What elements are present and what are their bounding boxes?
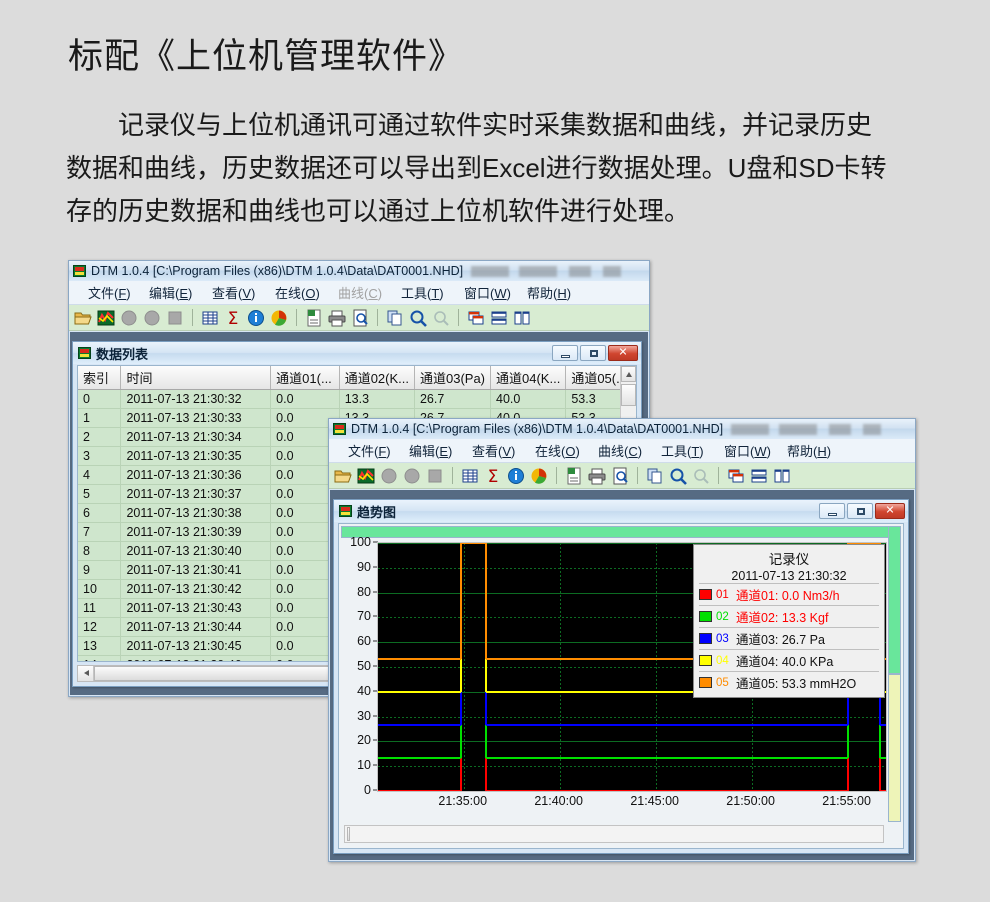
y-tick-label: 10 <box>357 758 371 772</box>
open-folder-icon[interactable] <box>333 466 353 486</box>
toolbar-separator <box>458 309 459 326</box>
cell-index: 5 <box>78 485 121 504</box>
cell-time: 2011-07-13 21:30:43 <box>121 599 271 618</box>
legend-channel-text: 通道03: 26.7 Pa <box>736 629 825 648</box>
gridline-h <box>378 791 886 792</box>
page-description: 记录仪与上位机通讯可通过软件实时采集数据和曲线，并记录历史数据和曲线，历史数据还… <box>66 104 896 233</box>
window-titlebar[interactable]: DTM 1.0.4 [C:\Program Files (x86)\DTM 1.… <box>69 261 649 281</box>
pie-chart-icon[interactable] <box>269 308 289 328</box>
child-window-trend[interactable]: 趋势图 ✕ 0102030405060708090100 21:35:0021:… <box>333 499 909 854</box>
x-tick-label: 21:55:00 <box>822 794 871 808</box>
legend-channel-text: 通道05: 53.3 mmH2O <box>736 673 856 692</box>
legend-row-04: 04通道04: 40.0 KPa <box>699 649 879 671</box>
table-grid-icon[interactable] <box>460 466 480 486</box>
menu-item-7[interactable]: 帮助(H) <box>787 441 831 460</box>
legend-channel-text: 通道01: 0.0 Nm3/h <box>736 585 840 604</box>
tile-vertical-icon[interactable] <box>772 466 792 486</box>
legend-channel-number: 03 <box>716 633 732 645</box>
menu-item-3[interactable]: 在线(O) <box>535 441 580 460</box>
column-header-5[interactable]: 通道04(K... <box>491 366 566 390</box>
cell-index: 10 <box>78 580 121 599</box>
chart-top-green-bar <box>341 526 889 538</box>
trace-segment <box>485 543 487 659</box>
x-tick-label: 21:45:00 <box>630 794 679 808</box>
cell-time: 2011-07-13 21:30:33 <box>121 409 271 428</box>
chart-curve-icon[interactable] <box>356 466 376 486</box>
trace-segment <box>378 658 461 660</box>
y-tick-label: 50 <box>357 659 371 673</box>
indicator-yellow <box>888 674 901 822</box>
menu-bar-2[interactable]: 文件(F)编辑(E)查看(V)在线(O)曲线(C)工具(T)窗口(W)帮助(H) <box>329 439 915 463</box>
menu-item-5[interactable]: 工具(T) <box>401 283 444 302</box>
minimize-button[interactable] <box>552 345 578 361</box>
dtm-window-trend[interactable]: DTM 1.0.4 [C:\Program Files (x86)\DTM 1.… <box>328 418 916 862</box>
app-icon <box>73 265 86 277</box>
print-preview-icon[interactable] <box>610 466 630 486</box>
cell-index: 2 <box>78 428 121 447</box>
legend-channel-text: 通道02: 13.3 Kgf <box>736 607 828 626</box>
cell-time: 2011-07-13 21:30:32 <box>121 390 271 409</box>
trace-segment <box>461 542 487 544</box>
menu-item-6[interactable]: 窗口(W) <box>464 283 511 302</box>
cell-index: 8 <box>78 542 121 561</box>
legend-device-name: 记录仪 <box>699 548 879 568</box>
menu-item-1[interactable]: 编辑(E) <box>149 283 192 302</box>
legend-color-swatch <box>699 611 712 622</box>
legend-color-swatch <box>699 677 712 688</box>
trend-chart-panel: 0102030405060708090100 21:35:0021:40:002… <box>338 523 904 849</box>
sigma-sum-icon[interactable]: Σ <box>483 466 503 486</box>
cascade-windows-icon[interactable] <box>466 308 486 328</box>
column-header-0[interactable]: 索引 <box>78 366 121 390</box>
legend-row-01: 01通道01: 0.0 Nm3/h <box>699 583 879 605</box>
svg-text:Σ: Σ <box>488 467 499 486</box>
cell-time: 2011-07-13 21:30:34 <box>121 428 271 447</box>
plot-wrapper: 0102030405060708090100 21:35:0021:40:002… <box>341 540 887 822</box>
cell-ch01: 0.0 <box>271 390 340 409</box>
tile-vertical-icon[interactable] <box>512 308 532 328</box>
child-title-text-2: 趋势图 <box>357 502 396 521</box>
cell-time: 2011-07-13 21:30:39 <box>121 523 271 542</box>
legend-channel-number: 05 <box>716 677 732 689</box>
toolbar-separator <box>192 309 193 326</box>
chart-legend: 记录仪 2011-07-13 21:30:32 01通道01: 0.0 Nm3/… <box>693 544 885 698</box>
cell-time: 2011-07-13 21:30:35 <box>121 447 271 466</box>
child-title-text: 数据列表 <box>96 344 148 363</box>
legend-color-swatch <box>699 633 712 644</box>
legend-row-03: 03通道03: 26.7 Pa <box>699 627 879 649</box>
print-icon[interactable] <box>327 308 347 328</box>
legend-channel-text: 通道04: 40.0 KPa <box>736 651 833 670</box>
cascade-windows-icon[interactable] <box>726 466 746 486</box>
y-tick-label: 70 <box>357 609 371 623</box>
menu-item-4[interactable]: 曲线(C) <box>598 441 642 460</box>
maximize-button[interactable] <box>847 503 873 519</box>
menu-item-0[interactable]: 文件(F) <box>88 283 131 302</box>
legend-channel-number: 01 <box>716 589 732 601</box>
x-tick-label: 21:35:00 <box>438 794 487 808</box>
window-title-text-2: DTM 1.0.4 [C:\Program Files (x86)\DTM 1.… <box>351 422 723 436</box>
legend-color-swatch <box>699 589 712 600</box>
page-title: 标配《上位机管理软件》 <box>68 28 464 79</box>
window-titlebar-2[interactable]: DTM 1.0.4 [C:\Program Files (x86)\DTM 1.… <box>329 419 915 439</box>
y-tick-label: 100 <box>350 535 371 549</box>
scroll-thumb[interactable] <box>621 384 636 406</box>
chart-right-indicator-bar <box>888 526 901 822</box>
y-tick-label: 30 <box>357 709 371 723</box>
scroll-up-button[interactable] <box>621 366 636 382</box>
export-excel-icon[interactable] <box>564 466 584 486</box>
trend-icon <box>339 505 352 517</box>
menu-item-4[interactable]: 曲线(C) <box>338 283 382 302</box>
titlebar-blurred-buttons-2 <box>731 424 911 435</box>
cell-index: 6 <box>78 504 121 523</box>
toolbar-separator <box>718 467 719 484</box>
y-axis: 0102030405060708090100 <box>341 540 373 792</box>
chart-curve-icon[interactable] <box>96 308 116 328</box>
pause-circle-icon[interactable] <box>142 308 162 328</box>
toolbar-separator <box>637 467 638 484</box>
stop-square-icon[interactable] <box>425 466 445 486</box>
minimize-button[interactable] <box>819 503 845 519</box>
toolbar-separator <box>452 467 453 484</box>
tool-bar[interactable]: Σ <box>69 305 649 331</box>
cell-time: 2011-07-13 21:30:44 <box>121 618 271 637</box>
menu-bar[interactable]: 文件(F)编辑(E)查看(V)在线(O)曲线(C)工具(T)窗口(W)帮助(H) <box>69 281 649 305</box>
menu-item-6[interactable]: 窗口(W) <box>724 441 771 460</box>
table-header-row: 索引时间通道01(...通道02(K...通道03(Pa)通道04(K...通道… <box>78 366 636 390</box>
x-tick-label: 21:50:00 <box>726 794 775 808</box>
toolbar-separator <box>377 309 378 326</box>
zoom-in-icon[interactable] <box>408 308 428 328</box>
tile-horizontal-icon[interactable] <box>749 466 769 486</box>
cell-index: 7 <box>78 523 121 542</box>
cell-time: 2011-07-13 21:30:45 <box>121 637 271 656</box>
cell-time: 2011-07-13 21:30:38 <box>121 504 271 523</box>
y-tick-label: 80 <box>357 585 371 599</box>
legend-timestamp: 2011-07-13 21:30:32 <box>699 569 879 583</box>
y-tick-label: 60 <box>357 634 371 648</box>
app-icon <box>333 423 346 435</box>
cell-index: 13 <box>78 637 121 656</box>
legend-channel-number: 04 <box>716 655 732 667</box>
cell-time: 2011-07-13 21:30:36 <box>121 466 271 485</box>
scroll-left-button[interactable] <box>78 666 94 681</box>
info-icon[interactable] <box>246 308 266 328</box>
menu-item-2[interactable]: 查看(V) <box>212 283 255 302</box>
menu-item-0[interactable]: 文件(F) <box>348 441 391 460</box>
record-circle-icon[interactable] <box>379 466 399 486</box>
table-grid-icon[interactable] <box>200 308 220 328</box>
child-window-buttons-2: ✕ <box>819 503 908 519</box>
print-preview-icon[interactable] <box>350 308 370 328</box>
print-icon[interactable] <box>587 466 607 486</box>
svg-text:Σ: Σ <box>228 309 239 328</box>
titlebar-blurred-buttons <box>471 266 645 277</box>
menu-item-7[interactable]: 帮助(H) <box>527 283 571 302</box>
cell-ch03: 26.7 <box>414 390 490 409</box>
cell-index: 11 <box>78 599 121 618</box>
x-axis: 21:35:0021:40:0021:45:0021:50:0021:55:00 <box>377 794 887 812</box>
cell-time: 2011-07-13 21:30:37 <box>121 485 271 504</box>
child-titlebar-2[interactable]: 趋势图 ✕ <box>334 500 908 522</box>
zoom-out-icon <box>691 466 711 486</box>
table-row[interactable]: 02011-07-13 21:30:320.013.326.740.053.3 <box>78 390 636 409</box>
cell-index: 12 <box>78 618 121 637</box>
pie-chart-icon[interactable] <box>529 466 549 486</box>
close-button[interactable]: ✕ <box>608 345 638 361</box>
cell-time: 2011-07-13 21:30:40 <box>121 542 271 561</box>
cell-ch02: 13.3 <box>339 390 414 409</box>
maximize-button[interactable] <box>580 345 606 361</box>
cell-index: 0 <box>78 390 121 409</box>
copy-icon[interactable] <box>645 466 665 486</box>
column-header-4[interactable]: 通道03(Pa) <box>414 366 490 390</box>
window-title-text: DTM 1.0.4 [C:\Program Files (x86)\DTM 1.… <box>91 264 463 278</box>
tool-bar-2[interactable]: Σ <box>329 463 915 489</box>
cell-time: 2011-07-13 21:30:46 <box>121 656 271 663</box>
export-excel-icon[interactable] <box>304 308 324 328</box>
menu-item-3[interactable]: 在线(O) <box>275 283 320 302</box>
trace-segment <box>460 543 462 659</box>
cell-time: 2011-07-13 21:30:41 <box>121 561 271 580</box>
datalist-icon <box>78 347 91 359</box>
cell-time: 2011-07-13 21:30:42 <box>121 580 271 599</box>
cell-index: 14 <box>78 656 121 663</box>
column-header-2[interactable]: 通道01(... <box>271 366 340 390</box>
zoom-out-icon <box>431 308 451 328</box>
y-tick-label: 90 <box>357 560 371 574</box>
toolbar-separator <box>556 467 557 484</box>
legend-row-02: 02通道02: 13.3 Kgf <box>699 605 879 627</box>
stop-square-icon[interactable] <box>165 308 185 328</box>
menu-item-5[interactable]: 工具(T) <box>661 441 704 460</box>
chart-horizontal-scrollbar[interactable] <box>344 825 884 843</box>
cell-index: 1 <box>78 409 121 428</box>
cell-ch04: 40.0 <box>491 390 566 409</box>
column-header-1[interactable]: 时间 <box>121 366 271 390</box>
cell-index: 4 <box>78 466 121 485</box>
legend-channel-number: 02 <box>716 611 732 623</box>
cell-index: 3 <box>78 447 121 466</box>
sigma-sum-icon[interactable]: Σ <box>223 308 243 328</box>
child-window-buttons: ✕ <box>552 345 641 361</box>
y-tick-label: 20 <box>357 733 371 747</box>
menu-item-1[interactable]: 编辑(E) <box>409 441 452 460</box>
column-header-3[interactable]: 通道02(K... <box>339 366 414 390</box>
record-circle-icon[interactable] <box>119 308 139 328</box>
toolbar-separator <box>296 309 297 326</box>
chart-scroll-thumb[interactable] <box>347 827 350 841</box>
close-button[interactable]: ✕ <box>875 503 905 519</box>
menu-item-2[interactable]: 查看(V) <box>472 441 515 460</box>
zoom-in-icon[interactable] <box>668 466 688 486</box>
tile-horizontal-icon[interactable] <box>489 308 509 328</box>
cell-index: 9 <box>78 561 121 580</box>
child-titlebar[interactable]: 数据列表 ✕ <box>73 342 641 364</box>
copy-icon[interactable] <box>385 308 405 328</box>
y-tick-label: 0 <box>364 783 371 797</box>
y-tick-label: 40 <box>357 684 371 698</box>
legend-row-05: 05通道05: 53.3 mmH2O <box>699 671 879 693</box>
indicator-green <box>888 526 901 674</box>
info-icon[interactable] <box>506 466 526 486</box>
pause-circle-icon[interactable] <box>402 466 422 486</box>
x-tick-label: 21:40:00 <box>534 794 583 808</box>
legend-color-swatch <box>699 655 712 666</box>
open-folder-icon[interactable] <box>73 308 93 328</box>
